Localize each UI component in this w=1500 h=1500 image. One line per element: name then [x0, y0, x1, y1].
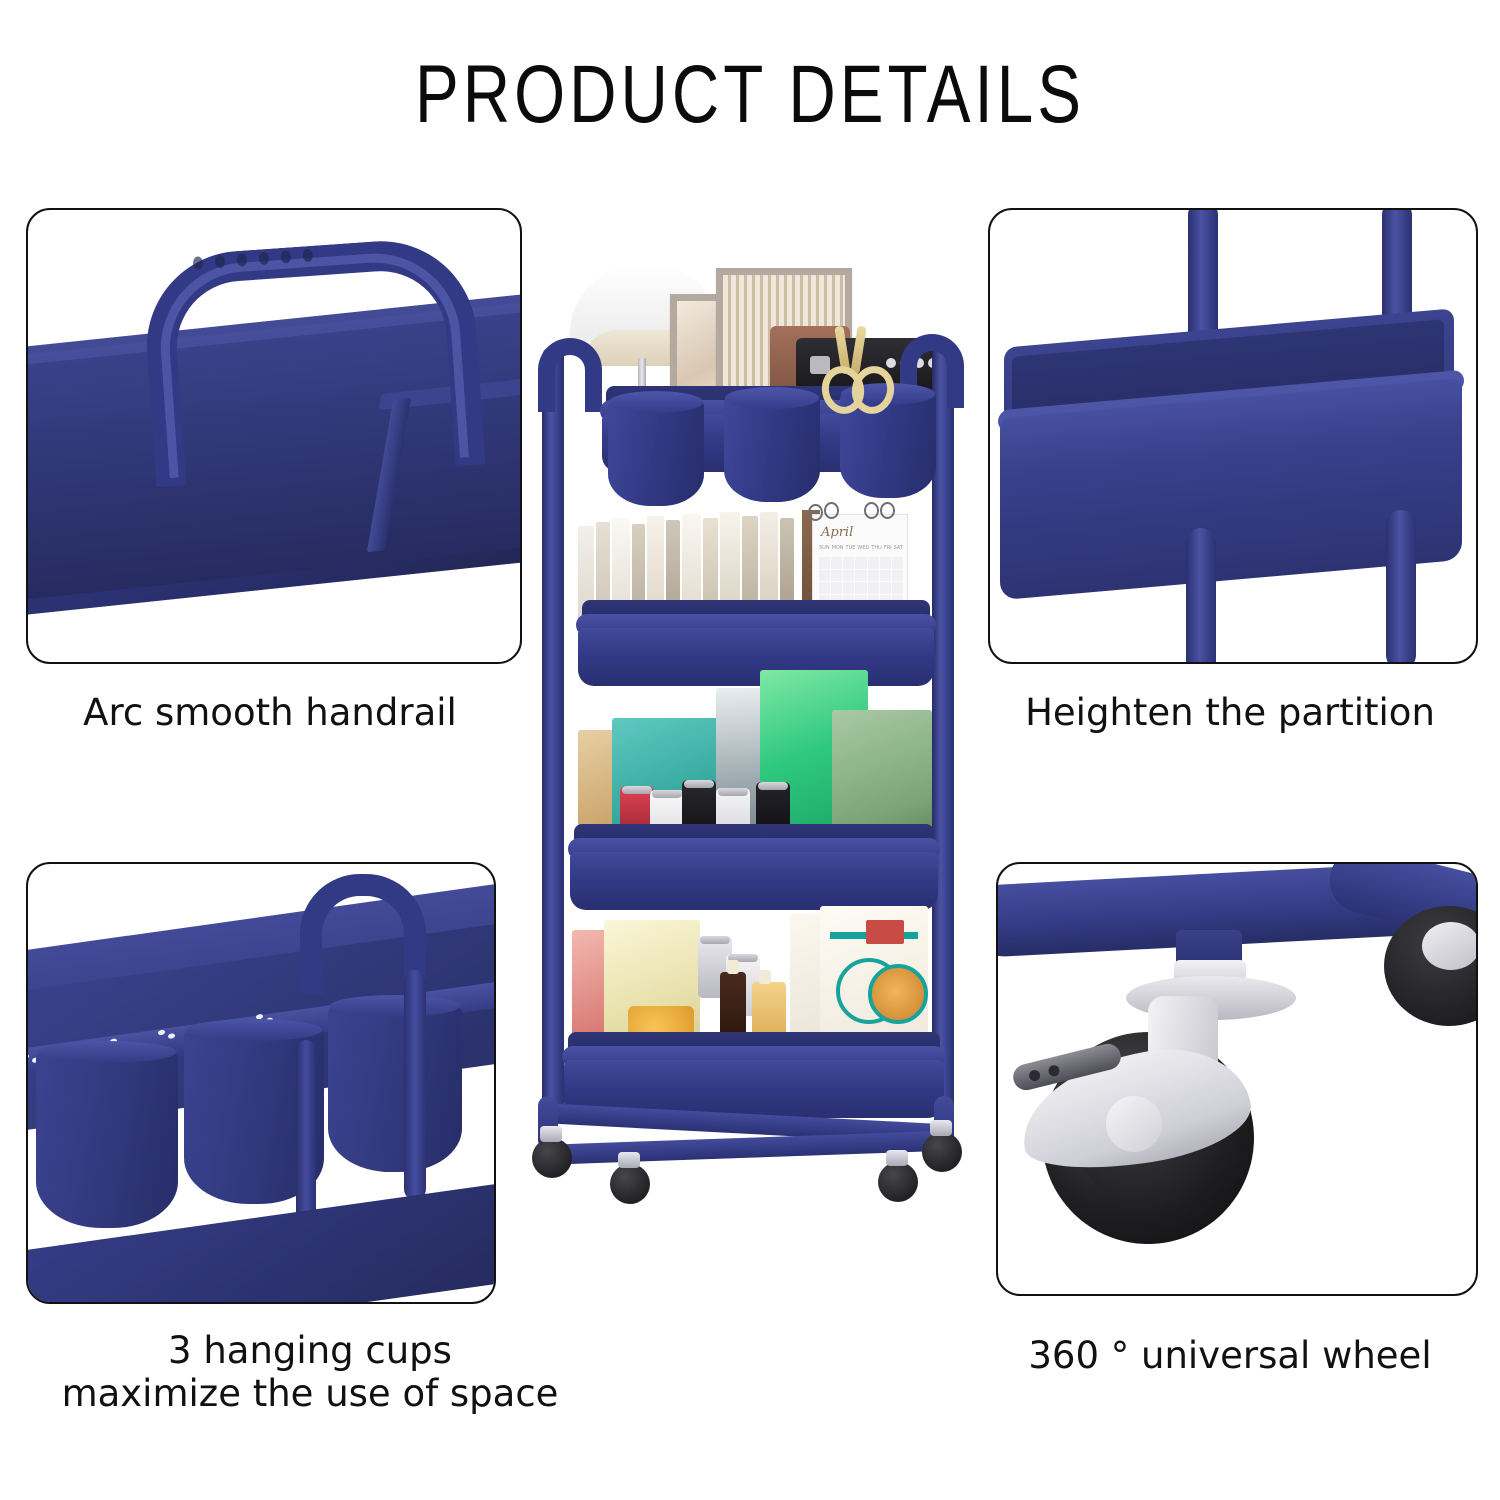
desk-calendar: April SUN MON TUE WED THU FRI SAT: [812, 514, 908, 612]
shelf-2-front: [578, 628, 934, 686]
calendar-day: THU: [871, 545, 881, 551]
caption-hanging-cups: 3 hanging cupsmaximize the use of space: [10, 1330, 610, 1416]
cart-leg-left: [1186, 528, 1216, 664]
caption-universal-wheel: 360 ° universal wheel: [960, 1335, 1500, 1378]
caster-wheel-rear-right: [878, 1162, 918, 1202]
calendar-day: WED: [857, 545, 869, 551]
hanging-cup-1: [36, 1050, 178, 1228]
caster-wheel-front-left: [532, 1138, 572, 1178]
caster-hubcap: [1106, 1096, 1162, 1152]
caster-wheel-front-right: [922, 1132, 962, 1172]
rear-caster-housing: [1422, 922, 1478, 970]
calendar-day: SUN: [819, 545, 830, 551]
shelf-3-front: [570, 852, 938, 910]
cart-pole-left: [542, 346, 564, 1116]
feature-panel-universal-wheel: [996, 862, 1478, 1296]
calendar-grid: [819, 557, 903, 606]
calendar-day-headers: SUN MON TUE WED THU FRI SAT: [819, 545, 903, 551]
arc-handle: [148, 246, 478, 426]
calendar-ring: [864, 502, 879, 519]
cart-handle-left: [538, 338, 602, 412]
cart-base-frame: [542, 1110, 954, 1180]
caption-arc-handrail: Arc smooth handrail: [10, 692, 530, 735]
page-title: PRODUCT DETAILS: [150, 48, 1350, 142]
cart-handle-bar: [300, 874, 440, 1174]
calendar-day: TUE: [846, 545, 856, 551]
gold-scissors: [820, 348, 882, 422]
calendar-ring: [824, 502, 839, 519]
product-cart-illustration: April SUN MON TUE WED THU FRI SAT: [520, 230, 980, 1290]
product-details-page: PRODUCT DETAILS Arc smooth ha: [0, 0, 1500, 1500]
cart-shelf-2: [576, 614, 936, 694]
cart-leg-right: [1386, 510, 1416, 664]
calendar-ring: [880, 502, 895, 519]
cart-hanging-cup-1: [608, 400, 704, 506]
calendar-day: FRI: [884, 545, 892, 551]
cart-hanging-cup-2: [724, 396, 820, 502]
calendar-day: SAT: [894, 545, 903, 551]
caption-line-2: maximize the use of space: [62, 1372, 559, 1415]
caption-heighten-partition: Heighten the partition: [975, 692, 1485, 735]
calendar-ring: [808, 504, 823, 521]
feature-panel-heighten-partition: [988, 208, 1478, 664]
caster-wheel-rear-left: [610, 1164, 650, 1204]
feature-panel-hanging-cups: [26, 862, 496, 1304]
caption-line-1: 3 hanging cups: [168, 1329, 452, 1372]
feature-panel-arc-handrail: [26, 208, 522, 664]
cereal-box-label: [866, 920, 904, 944]
calendar-month: April: [821, 525, 853, 540]
base-bar-rear: [542, 1131, 938, 1165]
calendar-day: MON: [832, 545, 844, 551]
cereal-bowl-graphic: [868, 964, 928, 1024]
